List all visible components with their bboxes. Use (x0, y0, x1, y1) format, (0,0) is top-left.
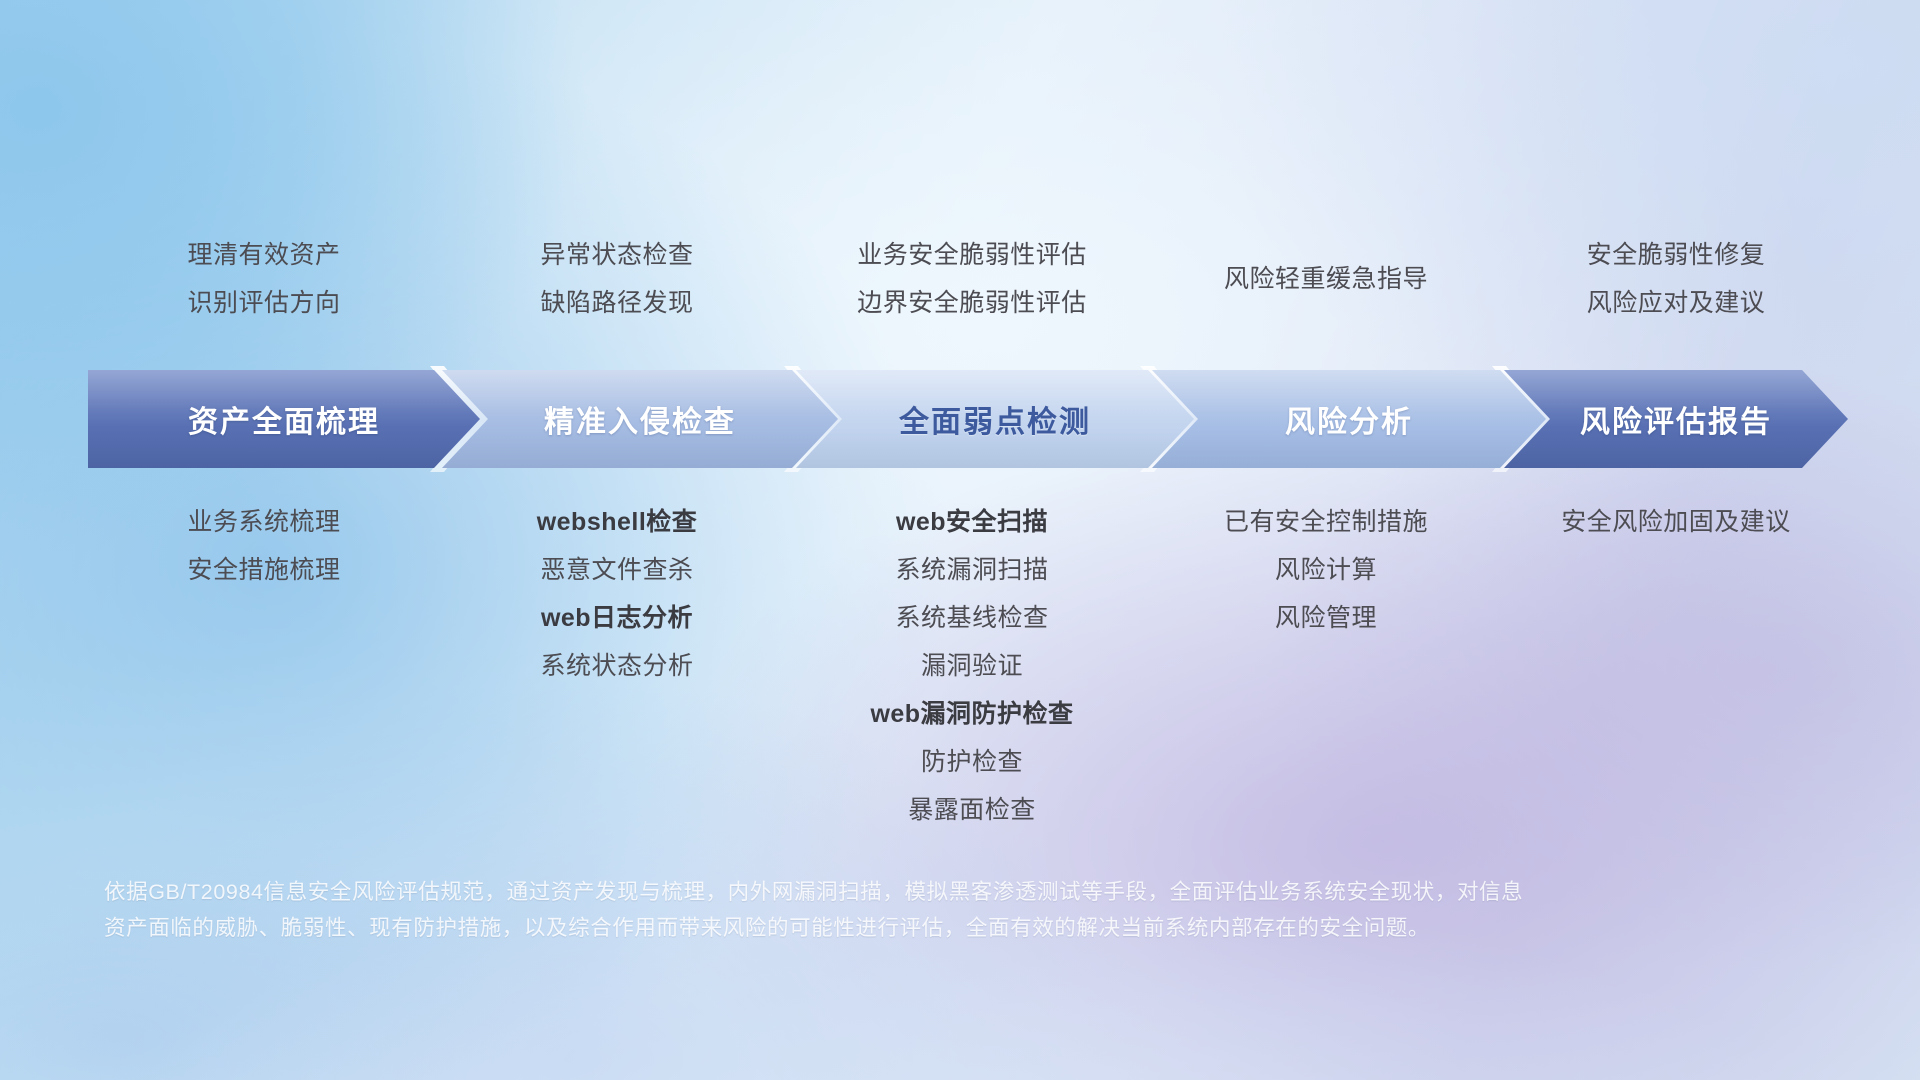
bottom-column-risk-analysis: 已有安全控制措施 风险计算 风险管理 (1150, 498, 1502, 642)
footer-line-1: 依据GB/T20984信息安全风险评估规范，通过资产发现与梳理，内外网漏洞扫描，… (104, 874, 1764, 910)
top-column-intrusion-check: 异常状态检查 缺陷路径发现 (440, 218, 794, 340)
detail-item: 漏洞验证 (794, 642, 1150, 690)
chevron-stage-risk-report[interactable]: 风险评估报告 (1504, 370, 1848, 468)
chevron-label: 全面弱点检测 (899, 397, 1091, 441)
bottom-column-weakness-detection: web安全扫描 系统漏洞扫描 系统基线检查 漏洞验证 web漏洞防护检查 防护检… (794, 498, 1150, 834)
detail-item: 恶意文件查杀 (440, 546, 794, 594)
detail-item: 已有安全控制措施 (1150, 498, 1502, 546)
top-column-risk-analysis: 风险轻重缓急指导 (1150, 218, 1502, 340)
chevron-label: 风险评估报告 (1580, 397, 1772, 441)
detail-item: 安全措施梳理 (88, 546, 440, 594)
chevron-stage-intrusion-check[interactable]: 精准入侵检查 (442, 370, 838, 468)
detail-item: 风险计算 (1150, 546, 1502, 594)
top-item: 风险应对及建议 (1502, 279, 1850, 327)
footer-line-2: 资产面临的威胁、脆弱性、现有防护措施，以及综合作用而带来风险的可能性进行评估，全… (104, 910, 1764, 946)
bottom-column-intrusion-check: webshell检查 恶意文件查杀 web日志分析 系统状态分析 (440, 498, 794, 690)
chevron-label: 风险分析 (1285, 397, 1413, 441)
top-column-weakness-detection: 业务安全脆弱性评估 边界安全脆弱性评估 (794, 218, 1150, 340)
top-item: 理清有效资产 (88, 231, 440, 279)
top-descriptor-row: 理清有效资产 识别评估方向 异常状态检查 缺陷路径发现 业务安全脆弱性评估 边界… (88, 218, 1850, 340)
top-item: 异常状态检查 (440, 231, 794, 279)
top-item: 缺陷路径发现 (440, 279, 794, 327)
detail-item: 系统状态分析 (440, 642, 794, 690)
detail-item: web安全扫描 (794, 498, 1150, 546)
footer-description: 依据GB/T20984信息安全风险评估规范，通过资产发现与梳理，内外网漏洞扫描，… (104, 874, 1764, 946)
detail-item: webshell检查 (440, 498, 794, 546)
detail-item: web漏洞防护检查 (794, 690, 1150, 738)
detail-item: 暴露面检查 (794, 786, 1150, 834)
detail-item: 安全风险加固及建议 (1502, 498, 1850, 546)
top-item: 边界安全脆弱性评估 (794, 279, 1150, 327)
detail-item: web日志分析 (440, 594, 794, 642)
chevron-label: 精准入侵检查 (544, 397, 736, 441)
top-column-risk-report: 安全脆弱性修复 风险应对及建议 (1502, 218, 1850, 340)
chevron-stage-weakness-detection[interactable]: 全面弱点检测 (796, 370, 1194, 468)
bottom-column-risk-report: 安全风险加固及建议 (1502, 498, 1850, 546)
top-item: 风险轻重缓急指导 (1150, 255, 1502, 303)
chevron-label: 资产全面梳理 (188, 397, 380, 441)
detail-item: 系统漏洞扫描 (794, 546, 1150, 594)
top-column-asset-inventory: 理清有效资产 识别评估方向 (88, 218, 440, 340)
top-item: 识别评估方向 (88, 279, 440, 327)
bottom-column-asset-inventory: 业务系统梳理 安全措施梳理 (88, 498, 440, 594)
chevron-stage-risk-analysis[interactable]: 风险分析 (1152, 370, 1546, 468)
detail-item: 风险管理 (1150, 594, 1502, 642)
bottom-detail-row: 业务系统梳理 安全措施梳理 webshell检查 恶意文件查杀 web日志分析 … (88, 498, 1850, 834)
chevron-stage-asset-inventory[interactable]: 资产全面梳理 (88, 370, 480, 468)
detail-item: 业务系统梳理 (88, 498, 440, 546)
slide-canvas: 理清有效资产 识别评估方向 异常状态检查 缺陷路径发现 业务安全脆弱性评估 边界… (0, 0, 1920, 1080)
top-item: 业务安全脆弱性评估 (794, 231, 1150, 279)
top-item: 安全脆弱性修复 (1502, 231, 1850, 279)
detail-item: 系统基线检查 (794, 594, 1150, 642)
process-chevron-band: 资产全面梳理 精准入侵检查 全面弱点检测 风险分析 风险评估报告 (84, 370, 1850, 468)
detail-item: 防护检查 (794, 738, 1150, 786)
